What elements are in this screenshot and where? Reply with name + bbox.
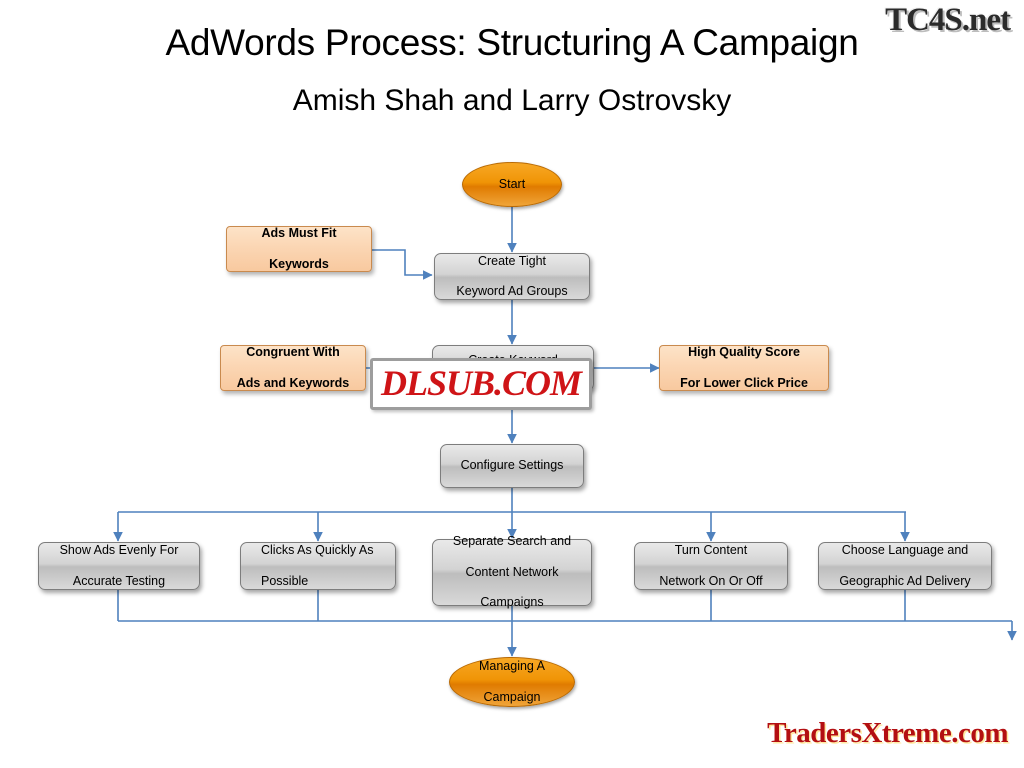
node-opt5-line2: Geographic Ad Delivery [835, 574, 974, 589]
node-note2-label: Congruent With Ads and Keywords [229, 345, 358, 391]
node-note3-line1: High Quality Score [676, 345, 812, 360]
node-opt3-line1: Separate Search and [449, 534, 575, 549]
node-opt3-label: Separate Search and Content Network Camp… [445, 534, 579, 610]
node-start-label: Start [495, 177, 529, 192]
slide-title: AdWords Process: Structuring A Campaign [0, 22, 1024, 64]
node-managing-line2: Campaign [475, 690, 549, 705]
node-note1-line2: Keywords [258, 257, 341, 272]
node-settings-label: Configure Settings [457, 458, 568, 473]
node-adgroups-line1: Create Tight [452, 254, 571, 269]
node-note3-label: High Quality Score For Lower Click Price [672, 345, 816, 391]
node-opt1-line1: Show Ads Evenly For [56, 543, 183, 558]
node-high-quality-score[interactable]: High Quality Score For Lower Click Price [659, 345, 829, 391]
node-note2-line2: Ads and Keywords [233, 376, 354, 391]
node-opt5-line1: Choose Language and [835, 543, 974, 558]
node-turn-content-network-on-or-off[interactable]: Turn Content Network On Or Off [634, 542, 788, 590]
node-opt5-label: Choose Language and Geographic Ad Delive… [831, 543, 978, 589]
node-opt4-line1: Turn Content [655, 543, 766, 558]
node-opt1-line2: Accurate Testing [56, 574, 183, 589]
node-managing-label: Managing A Campaign [471, 659, 553, 705]
node-start[interactable]: Start [462, 162, 562, 207]
edge-note1-to-adgroups [372, 250, 432, 275]
node-create-tight-keyword-ad-groups[interactable]: Create Tight Keyword Ad Groups [434, 253, 590, 300]
node-note2-line1: Congruent With [233, 345, 354, 360]
node-note1-line1: Ads Must Fit [258, 226, 341, 241]
node-congruent-with-ads-and-keywords[interactable]: Congruent With Ads and Keywords [220, 345, 366, 391]
node-ads-must-fit-keywords[interactable]: Ads Must Fit Keywords [226, 226, 372, 272]
node-note1-label: Ads Must Fit Keywords [254, 226, 345, 272]
node-clicks-as-quickly-as-possible[interactable]: Clicks As Quickly As Possible [240, 542, 396, 590]
node-note3-line2: For Lower Click Price [676, 376, 812, 391]
node-opt3-line2: Content Network [449, 565, 575, 580]
node-opt2-label: Clicks As Quickly As Possible [253, 543, 382, 589]
watermark-dlsub: DLSUB.COM [370, 358, 592, 410]
node-configure-settings[interactable]: Configure Settings [440, 444, 584, 488]
node-opt3-line3: Campaigns [449, 595, 575, 610]
watermark-tradersxtreme: TradersXtreme.com [767, 717, 1008, 750]
node-show-ads-evenly[interactable]: Show Ads Evenly For Accurate Testing [38, 542, 200, 590]
node-choose-language-and-geographic-ad-delivery[interactable]: Choose Language and Geographic Ad Delive… [818, 542, 992, 590]
watermark-tc4s: TC4S.net [885, 2, 1010, 39]
node-opt4-label: Turn Content Network On Or Off [651, 543, 770, 589]
node-opt4-line2: Network On Or Off [655, 574, 766, 589]
node-adgroups-line2: Keyword Ad Groups [452, 284, 571, 299]
node-managing-line1: Managing A [475, 659, 549, 674]
node-opt2-line1: Clicks As Quickly As [257, 543, 378, 558]
node-adgroups-label: Create Tight Keyword Ad Groups [448, 254, 575, 300]
slide-subtitle: Amish Shah and Larry Ostrovsky [0, 84, 1024, 118]
node-managing-a-campaign[interactable]: Managing A Campaign [449, 657, 575, 707]
node-separate-search-and-content-network-campaigns[interactable]: Separate Search and Content Network Camp… [432, 539, 592, 606]
slide-canvas: AdWords Process: Structuring A Campaign … [0, 0, 1024, 768]
node-opt2-line2: Possible [257, 574, 378, 589]
node-opt1-label: Show Ads Evenly For Accurate Testing [52, 543, 187, 589]
